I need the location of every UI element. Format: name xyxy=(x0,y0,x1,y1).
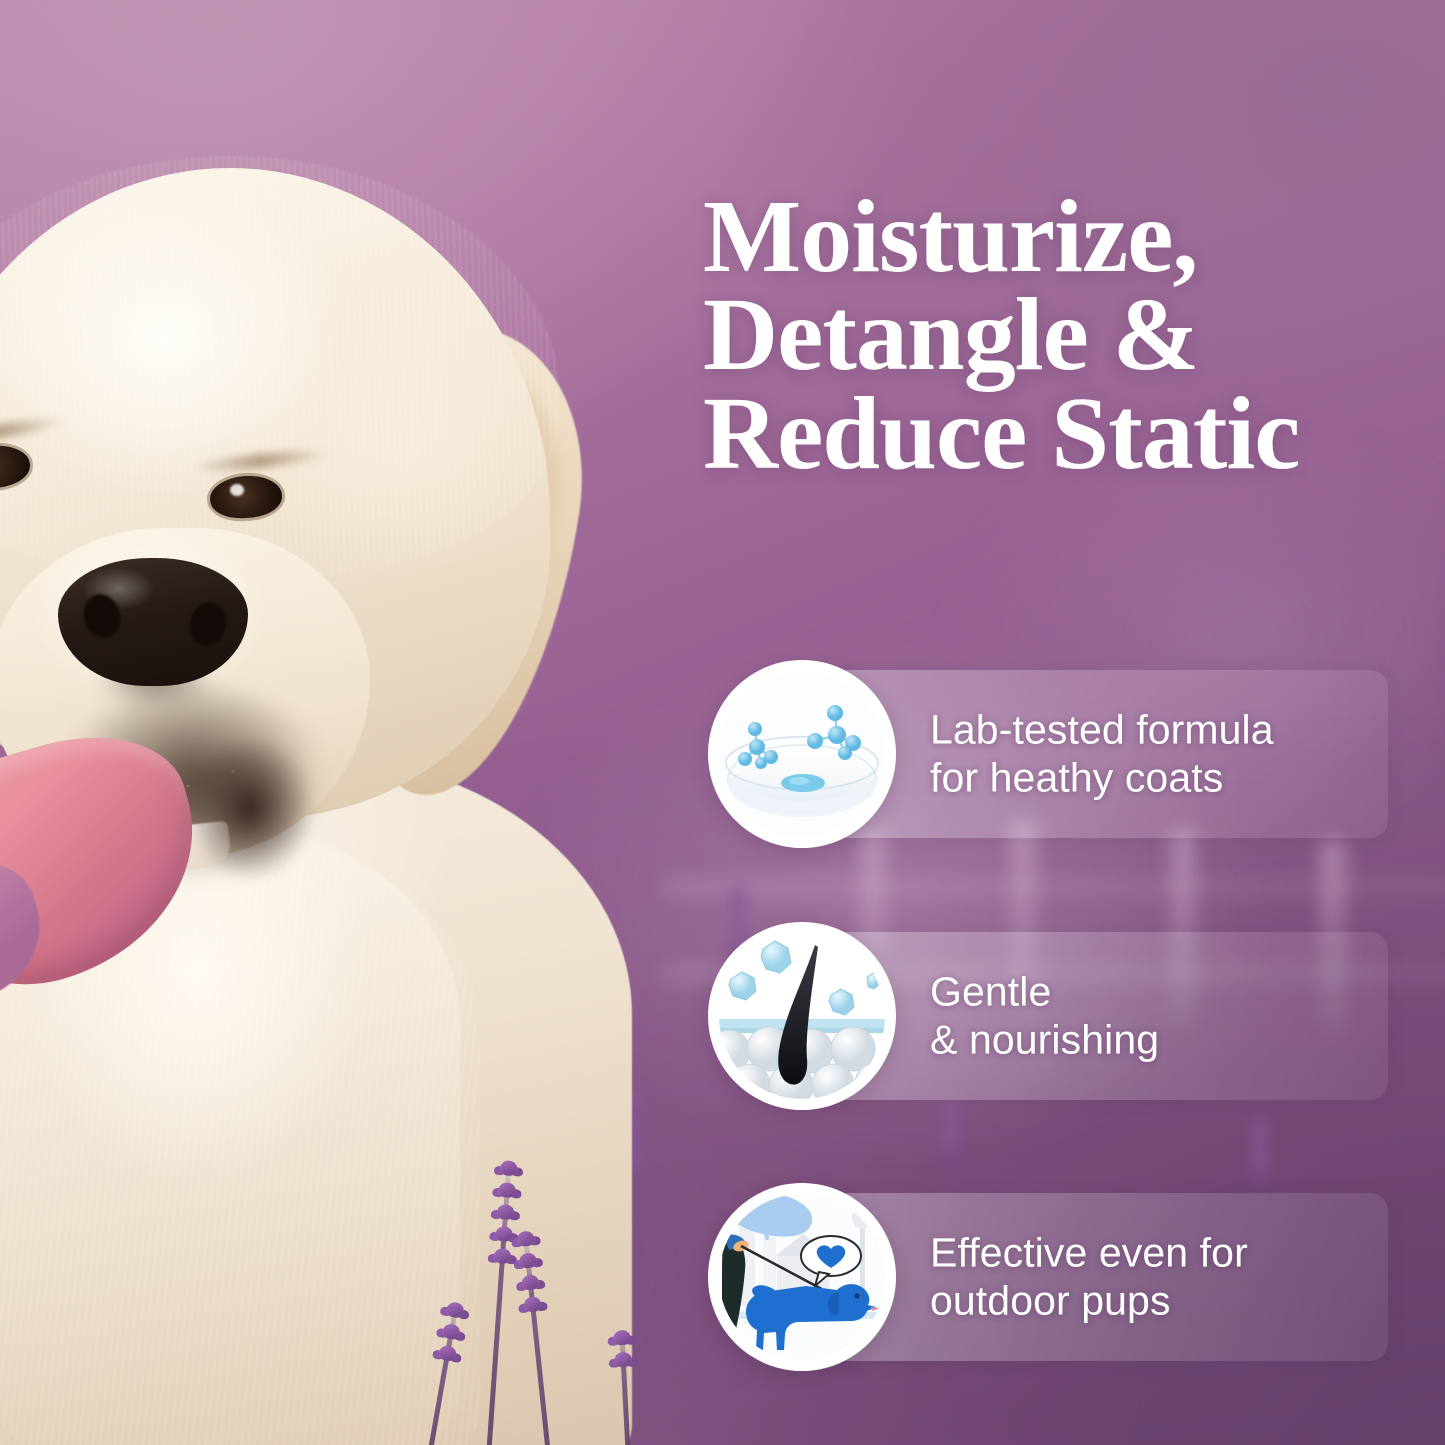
dog-eye-highlight-right xyxy=(230,484,244,496)
feature-3-line-2: outdoor pups xyxy=(930,1277,1370,1325)
feature-3-line-1: Effective even for xyxy=(930,1229,1370,1277)
feature-1-line-2: for heathy coats xyxy=(930,754,1370,802)
feature-card-gentle-nourishing: Gentle & nourishing xyxy=(830,932,1388,1100)
feature-text-lab-tested: Lab-tested formula for heathy coats xyxy=(930,706,1370,801)
golden-retriever-photo xyxy=(0,128,740,1445)
headline-line-1: Moisturize, xyxy=(703,188,1433,287)
dog-lip-shading xyxy=(170,728,370,928)
feature-text-outdoor-pups: Effective even for outdoor pups xyxy=(930,1229,1370,1324)
feature-badge-1 xyxy=(708,660,896,848)
feature-2-line-2: & nourishing xyxy=(930,1016,1370,1064)
feature-card-lab-tested: Lab-tested formula for heathy coats xyxy=(830,670,1388,838)
dog-head-fur-texture xyxy=(0,156,560,576)
feature-2-line-1: Gentle xyxy=(930,968,1370,1016)
headline-line-2: Detangle & xyxy=(703,286,1433,385)
feature-1-line-1: Lab-tested formula xyxy=(930,706,1370,754)
petri-dish-molecule-icon xyxy=(719,671,885,837)
feature-badge-2 xyxy=(708,922,896,1110)
feature-card-outdoor-pups: Effective even for outdoor pups xyxy=(830,1193,1388,1361)
feature-badge-3 xyxy=(708,1183,896,1371)
foreground-lavender-stalk xyxy=(603,1329,648,1445)
marketing-banner: Moisturize, Detangle & Reduce Static Lab… xyxy=(0,0,1445,1445)
headline-line-3: Reduce Static xyxy=(703,385,1433,484)
dog-walking-icon xyxy=(719,1194,885,1360)
feature-text-gentle-nourishing: Gentle & nourishing xyxy=(930,968,1370,1063)
hair-follicle-icon xyxy=(719,933,885,1099)
page-title: Moisturize, Detangle & Reduce Static xyxy=(703,188,1433,484)
